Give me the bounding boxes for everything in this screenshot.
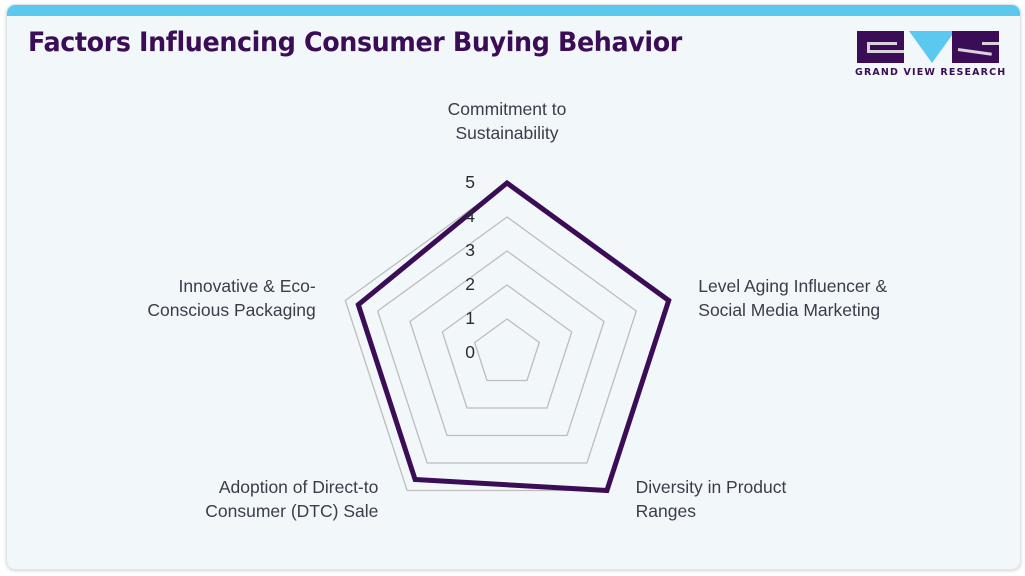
radar-grid-ring-1 bbox=[475, 319, 540, 381]
axis-label-diversity-in-product-ranges: Diversity in Product Ranges bbox=[636, 475, 866, 523]
axis-label-innovative-eco-packaging: Innovative & Eco- Conscious Packaging bbox=[86, 274, 316, 322]
infographic-card: Factors Influencing Consumer Buying Beha… bbox=[6, 4, 1021, 570]
axis-label-adoption-of-dtc-sale: Adoption of Direct-to Consumer (DTC) Sal… bbox=[148, 475, 378, 523]
logo-g-block-icon bbox=[857, 31, 904, 63]
radial-tick-4: 4 bbox=[453, 206, 475, 227]
radial-tick-2: 2 bbox=[453, 274, 475, 295]
grand-view-research-logo: GRAND VIEW RESEARCH bbox=[852, 31, 1004, 79]
page-title: Factors Influencing Consumer Buying Beha… bbox=[28, 27, 682, 58]
axis-label-level-aging-influencer: Level Aging Influencer & Social Media Ma… bbox=[698, 274, 928, 322]
logo-marks bbox=[852, 31, 1004, 63]
radial-tick-5: 5 bbox=[453, 172, 475, 193]
logo-text: GRAND VIEW RESEARCH bbox=[855, 67, 1006, 78]
radar-chart: Commitment to Sustainability Level Aging… bbox=[7, 89, 1020, 567]
axis-label-commitment-to-sustainability: Commitment to Sustainability bbox=[357, 97, 657, 145]
logo-r-block-icon bbox=[952, 31, 999, 63]
radial-tick-3: 3 bbox=[453, 240, 475, 261]
radar-data-polygon bbox=[358, 183, 668, 491]
radial-tick-0: 0 bbox=[453, 342, 475, 363]
accent-top-bar bbox=[7, 5, 1020, 16]
radial-tick-1: 1 bbox=[453, 308, 475, 329]
logo-triangle-icon bbox=[909, 31, 955, 63]
